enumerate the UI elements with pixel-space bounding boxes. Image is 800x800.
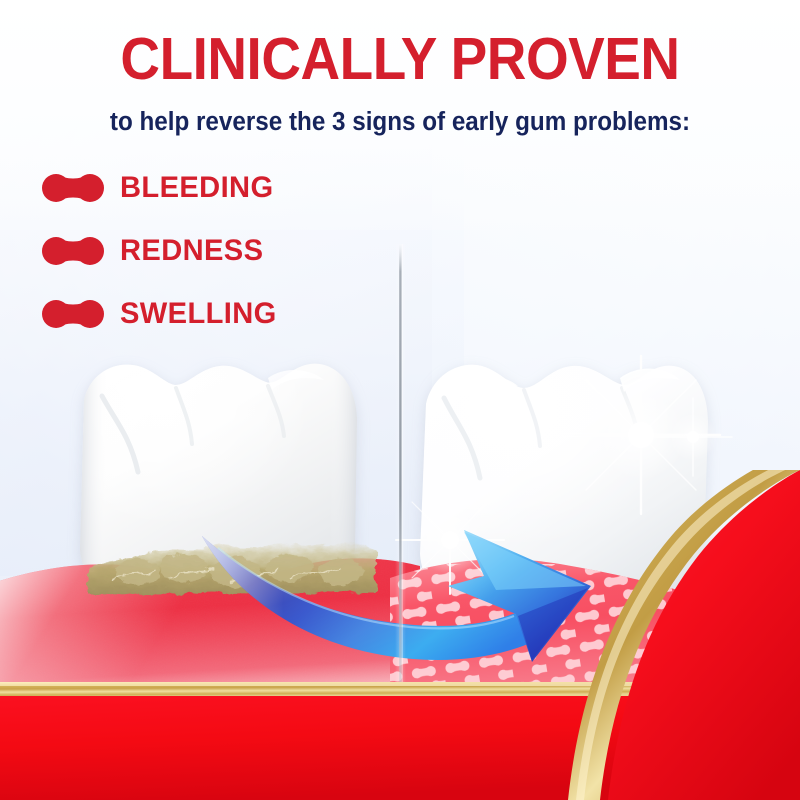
page-title: CLINICALLY PROVEN	[28, 30, 772, 89]
gum-health-ad-creative: CLINICALLY PROVEN to help reverse the 3 …	[0, 0, 800, 800]
benefit-label: SWELLING	[120, 297, 277, 331]
list-item: REDNESS	[42, 219, 282, 282]
peanut-bullet-icon	[42, 234, 104, 268]
corner-gold-swoosh	[460, 470, 800, 800]
subheadline: to help reverse the 3 signs of early gum…	[20, 109, 780, 136]
benefit-label: BLEEDING	[120, 171, 273, 205]
peanut-bullet-icon	[42, 171, 104, 205]
peanut-bullet-icon	[42, 297, 104, 331]
benefits-list: BLEEDING REDNESS SWELLING	[42, 156, 282, 345]
list-item: BLEEDING	[42, 156, 282, 219]
list-item: SWELLING	[42, 282, 282, 345]
benefit-label: REDNESS	[120, 234, 263, 268]
headline-block: CLINICALLY PROVEN to help reverse the 3 …	[0, 30, 800, 136]
